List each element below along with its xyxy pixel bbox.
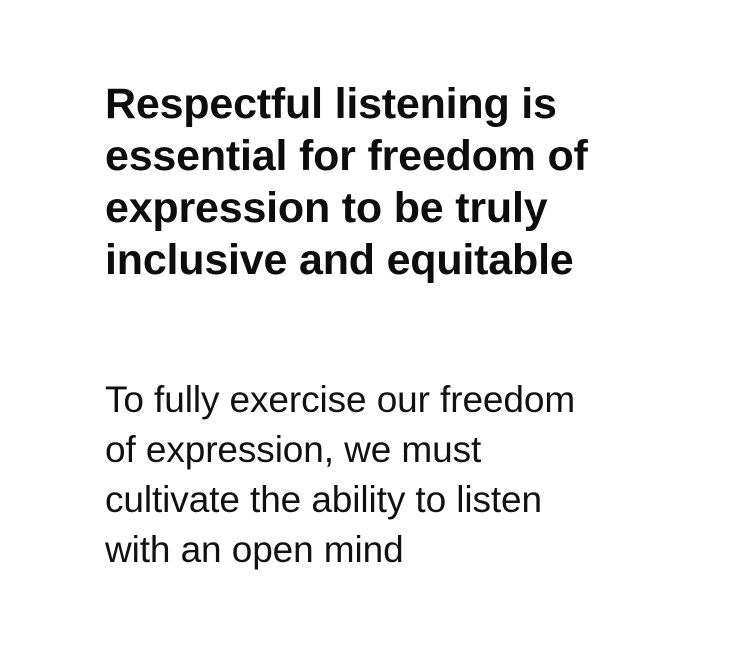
page-title: Respectful listening is essential for fr… — [105, 78, 675, 286]
headline-block: Respectful listening is essential for fr… — [105, 78, 675, 286]
slide-canvas: Respectful listening is essential for fr… — [0, 0, 750, 650]
body-paragraph: To fully exercise our freedom of express… — [105, 375, 685, 575]
